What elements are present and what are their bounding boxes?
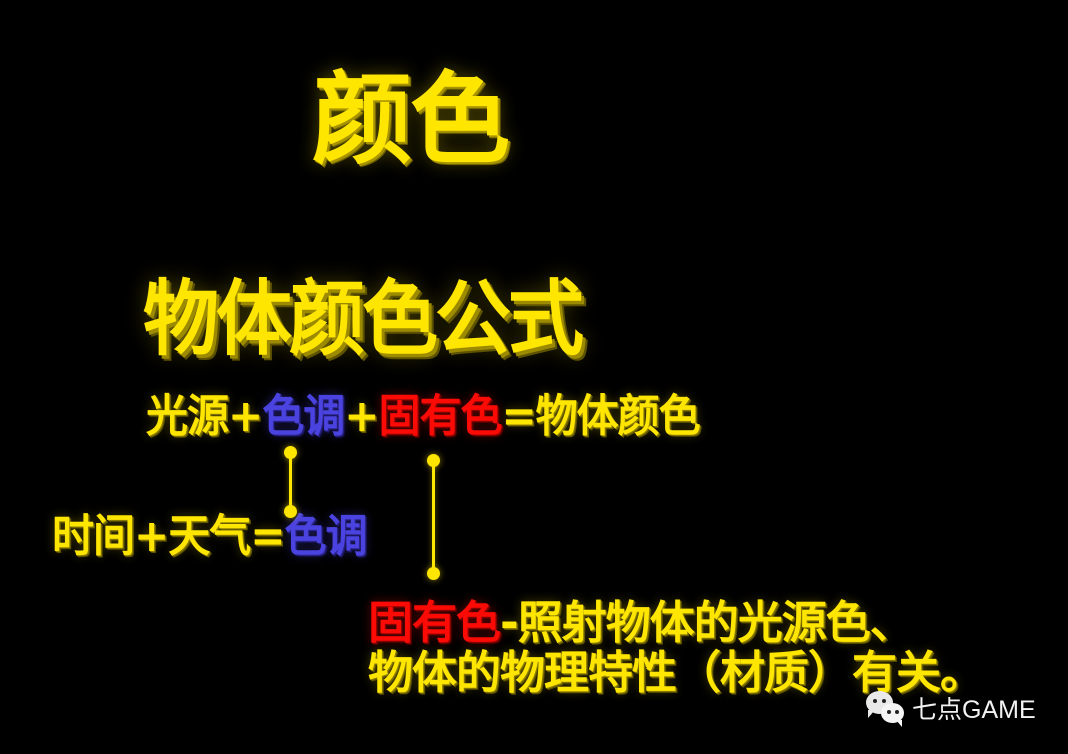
watermark: 七点GAME [866, 690, 1036, 726]
hue-connector-stalk [289, 452, 292, 512]
wechat-bubble-large-tail [868, 710, 875, 718]
section-heading-formula: 物体颜色公式 [143, 278, 581, 360]
local-color-connector-stalk [432, 460, 435, 574]
formula-line-2: 时间+天气=色调 [52, 514, 366, 559]
formula2-operator-equals: = [250, 510, 284, 562]
formula2-term-weather: 天气 [168, 510, 250, 562]
formula-term-hue: 色调 [262, 390, 344, 442]
formula-operator-plus-2: + [344, 390, 378, 442]
page-title: 颜色 [312, 70, 508, 170]
wechat-bubble-small-eye-left [887, 710, 891, 714]
wechat-bubble-large-eye-right [882, 699, 886, 703]
slide-canvas: 颜色 物体颜色公式 光源+色调+固有色=物体颜色 时间+天气=色调 固有色-照射… [0, 0, 1068, 754]
local-color-connector-dot-bottom [427, 567, 440, 580]
formula-operator-equals: = [501, 390, 535, 442]
wechat-bubble-small-tail [896, 720, 902, 727]
wechat-bubble-large-eye-left [873, 699, 877, 703]
formula-line-1: 光源+色调+固有色=物体颜色 [146, 394, 700, 439]
note-block: 固有色-照射物体的光源色、 物体的物理特性（材质）有关。 [368, 598, 1008, 699]
formula2-term-hue: 色调 [284, 510, 366, 562]
wechat-bubble-small [881, 703, 904, 723]
formula-operator-plus: + [228, 390, 262, 442]
note-line-1-rest: -照射物体的光源色、 [500, 596, 914, 649]
hue-connector-dot-bottom [284, 505, 297, 518]
wechat-bubble-small-eye-right [895, 710, 899, 714]
hue-connector-line [283, 452, 297, 512]
formula-term-local-color: 固有色 [378, 390, 501, 442]
watermark-label: 七点GAME [912, 690, 1036, 726]
note-line-1: 固有色-照射物体的光源色、 [368, 598, 1008, 648]
local-color-connector-line [426, 460, 440, 574]
formula2-term-time: 时间 [52, 510, 134, 562]
formula-term-light-source: 光源 [146, 390, 228, 442]
wechat-icon [866, 691, 906, 725]
note-highlight-local-color: 固有色 [368, 596, 500, 649]
formula-term-object-color: 物体颜色 [536, 390, 700, 442]
formula2-operator-plus: + [134, 510, 168, 562]
